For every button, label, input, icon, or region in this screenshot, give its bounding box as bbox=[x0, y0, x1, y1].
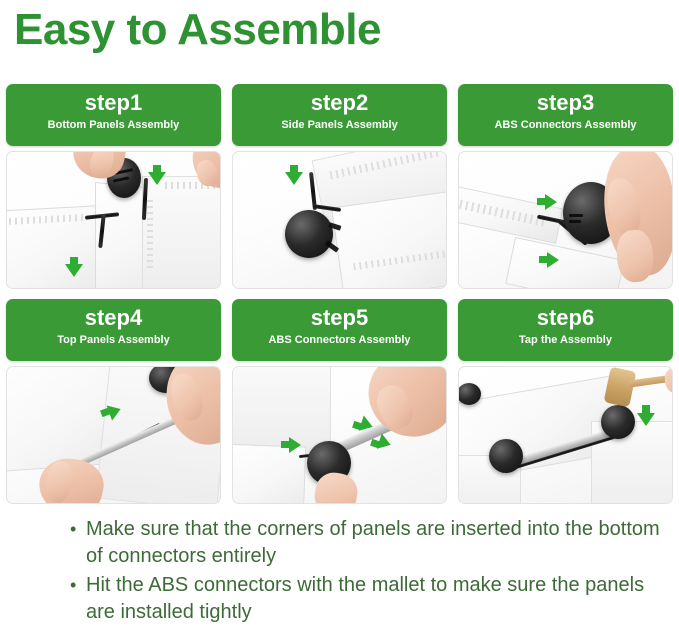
step-photo-5 bbox=[232, 366, 447, 504]
step-label-2: step2 bbox=[232, 90, 447, 116]
notes-list: • Make sure that the corners of panels a… bbox=[70, 516, 670, 628]
note-text: Make sure that the corners of panels are… bbox=[86, 516, 670, 570]
step-card-4: step4 Top Panels Assembly bbox=[6, 299, 221, 504]
step-card-1: step1 Bottom Panels Assembly bbox=[6, 84, 221, 289]
step-header-6: step6 Tap the Assembly bbox=[458, 299, 673, 361]
step-card-3: step3 ABS Connectors Assembly bbox=[458, 84, 673, 289]
steps-grid: step1 Bottom Panels Assembly bbox=[6, 84, 674, 514]
step-header-3: step3 ABS Connectors Assembly bbox=[458, 84, 673, 146]
step-subtitle-3: ABS Connectors Assembly bbox=[458, 116, 673, 134]
step-label-6: step6 bbox=[458, 305, 673, 331]
step-subtitle-5: ABS Connectors Assembly bbox=[232, 331, 447, 349]
step-label-4: step4 bbox=[6, 305, 221, 331]
step-subtitle-1: Bottom Panels Assembly bbox=[6, 116, 221, 134]
steps-row-2: step4 Top Panels Assembly bbox=[6, 299, 674, 504]
step-card-2: step2 Side Panels Assembly bbox=[232, 84, 447, 289]
arrow-down-icon bbox=[637, 413, 655, 426]
page-title: Easy to Assemble bbox=[14, 2, 381, 58]
step-subtitle-2: Side Panels Assembly bbox=[232, 116, 447, 134]
arrow-down-icon bbox=[285, 172, 303, 185]
assembly-instructions-page: Easy to Assemble step1 Bottom Panels Ass… bbox=[0, 0, 679, 632]
step-photo-4 bbox=[6, 366, 221, 504]
note-item: • Make sure that the corners of panels a… bbox=[70, 516, 670, 570]
abs-connector bbox=[285, 210, 333, 258]
step-photo-1 bbox=[6, 151, 221, 289]
step-header-4: step4 Top Panels Assembly bbox=[6, 299, 221, 361]
abs-connector bbox=[458, 383, 481, 405]
steps-row-1: step1 Bottom Panels Assembly bbox=[6, 84, 674, 289]
step-header-5: step5 ABS Connectors Assembly bbox=[232, 299, 447, 361]
step-card-6: step6 Tap the Assembly bbox=[458, 299, 673, 504]
step-subtitle-6: Tap the Assembly bbox=[458, 331, 673, 349]
step-photo-3 bbox=[458, 151, 673, 289]
arrow-down-icon bbox=[65, 264, 83, 277]
step-photo-6 bbox=[458, 366, 673, 504]
note-text: Hit the ABS connectors with the mallet t… bbox=[86, 572, 670, 626]
abs-connector bbox=[489, 439, 523, 473]
step-subtitle-4: Top Panels Assembly bbox=[6, 331, 221, 349]
arrow-down-icon bbox=[148, 172, 166, 185]
step-header-2: step2 Side Panels Assembly bbox=[232, 84, 447, 146]
note-item: • Hit the ABS connectors with the mallet… bbox=[70, 572, 670, 626]
step-label-5: step5 bbox=[232, 305, 447, 331]
step-photo-2 bbox=[232, 151, 447, 289]
note-bullet-icon: • bbox=[70, 572, 86, 599]
step-header-1: step1 Bottom Panels Assembly bbox=[6, 84, 221, 146]
arrow-right-icon bbox=[545, 194, 557, 210]
arrow-right-icon bbox=[289, 437, 301, 453]
step-card-5: step5 ABS Connectors Assembly bbox=[232, 299, 447, 504]
step-label-1: step1 bbox=[6, 90, 221, 116]
arrow-right-icon bbox=[547, 252, 559, 268]
step-label-3: step3 bbox=[458, 90, 673, 116]
abs-connector bbox=[601, 405, 635, 439]
note-bullet-icon: • bbox=[70, 516, 86, 543]
